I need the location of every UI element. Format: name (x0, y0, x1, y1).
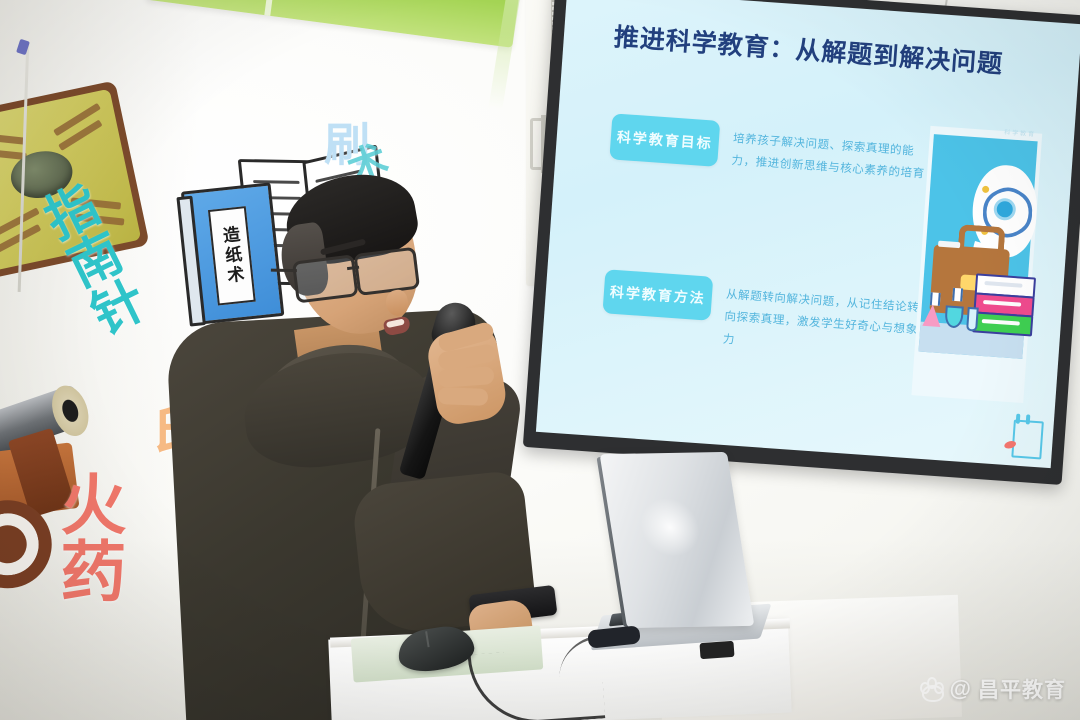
stacked-book (972, 311, 1033, 336)
laptop[interactable] (592, 452, 842, 652)
baidu-paw-icon (918, 676, 944, 702)
green-board-line (264, 0, 282, 16)
laptop-lid (600, 452, 755, 628)
illustration-corner-mark: 科学教育 (1004, 127, 1037, 138)
compass-ray (53, 103, 101, 136)
display-bezel: 推进科学教育：从解题到解决问题 科学教育目标 培养孩子解决问题、探索真理的能力，… (523, 0, 1080, 485)
slide-illustration: 科学教育 (911, 126, 1042, 403)
glasses-lens-right (353, 247, 420, 296)
presenter-finger (438, 387, 489, 406)
gunpowder-label: 火药 (56, 470, 119, 604)
slide-pill-method: 科学教育方法 (602, 269, 713, 321)
test-tube-body (966, 307, 979, 332)
slide-pill-goal: 科学教育目标 (609, 113, 720, 167)
notebook-icon (1007, 419, 1044, 461)
compass-ray (0, 132, 25, 145)
glasses-lens-left (292, 254, 359, 303)
book-line (984, 281, 1022, 288)
book-line (982, 319, 1020, 326)
smart-display[interactable]: 推进科学教育：从解题到解决问题 科学教育目标 培养孩子解决问题、探索真理的能力，… (523, 0, 1080, 485)
slide-body-goal: 培养孩子解决问题、探索真理的能力，推进创新思维与核心素养的培育 (731, 128, 929, 187)
flask-neck (952, 288, 963, 302)
watermark-handle: 昌平教育 (978, 674, 1066, 704)
briefcase-handle (958, 224, 1006, 257)
slide-title: 推进科学教育：从解题到解决问题 (613, 17, 1005, 80)
screenshot-root: 指南针 造纸术 火药 印 刷 术 (0, 0, 1080, 720)
flask-body (922, 304, 942, 327)
briefcase-tag (938, 241, 960, 249)
slide-canvas: 推进科学教育：从解题到解决问题 科学教育目标 培养孩子解决问题、探索真理的能力，… (536, 0, 1080, 468)
flask-round-icon (944, 287, 965, 328)
notebook-page (1011, 419, 1044, 459)
mouse-button-split (425, 631, 429, 647)
slide-body-method: 从解题转向解决问题，从记住结论转向探索真理，激发学生好奇心与想象力 (722, 284, 921, 365)
laptop-lid-reflection (637, 498, 703, 556)
flask-triangle-icon (922, 292, 942, 327)
book-stack-icon (972, 273, 1032, 339)
flask-body (944, 305, 964, 328)
glasses-temple (271, 269, 297, 272)
book-line (983, 300, 1021, 307)
watermark: @ 昌平教育 (918, 674, 1066, 704)
watermark-at-symbol: @ (950, 676, 972, 702)
